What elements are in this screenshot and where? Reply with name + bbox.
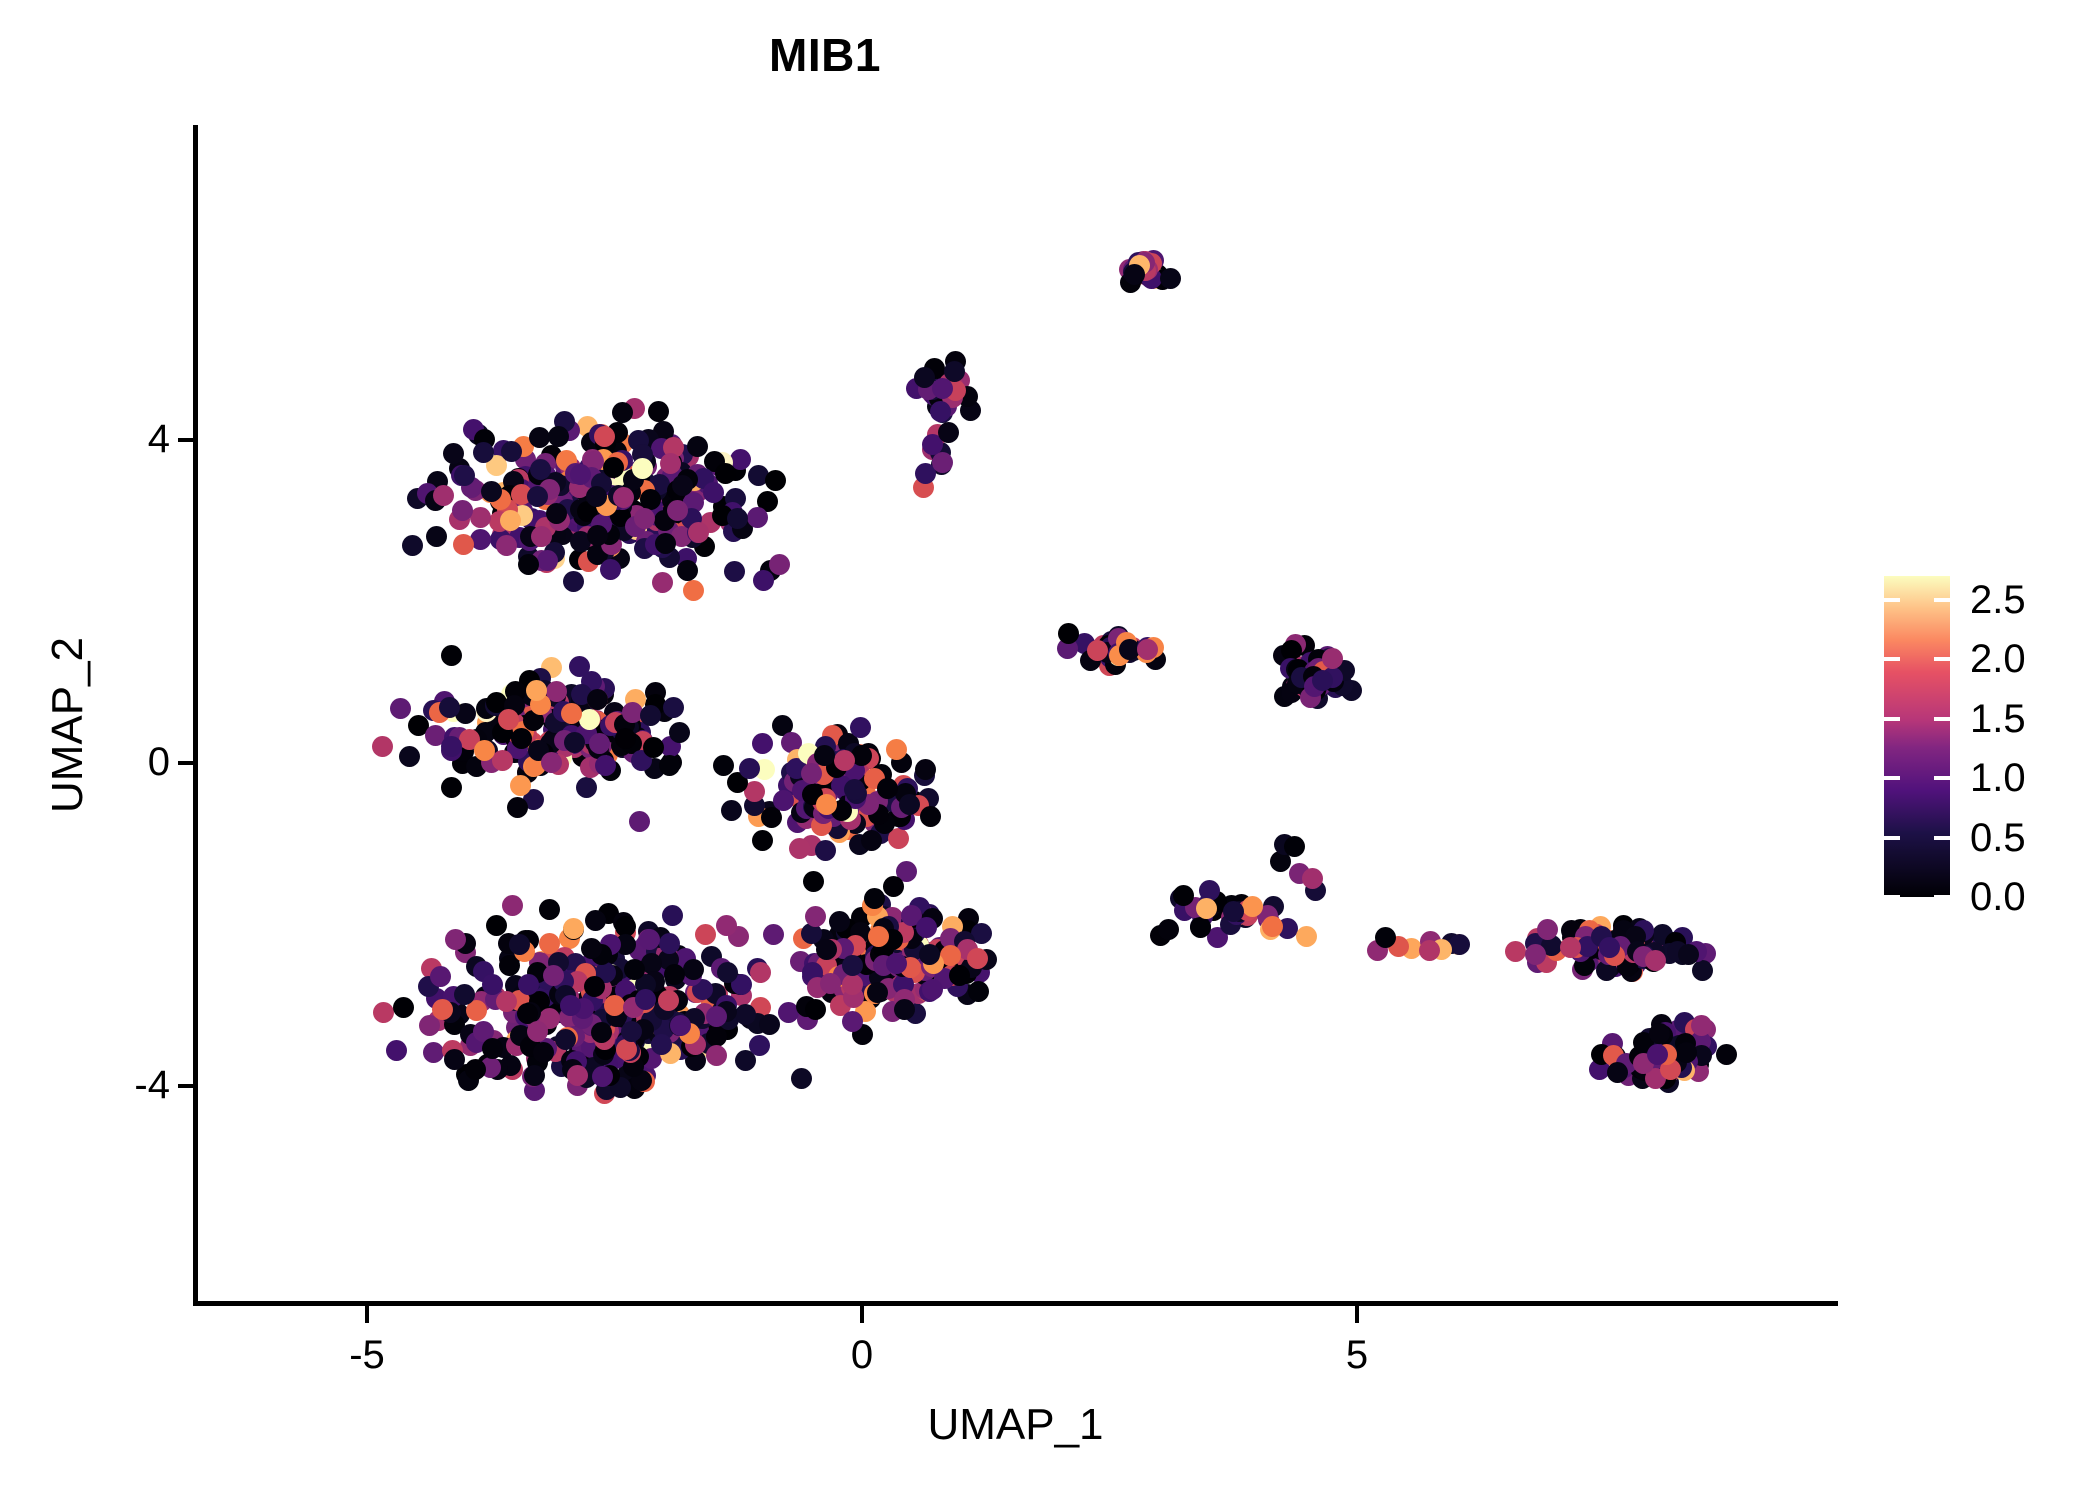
scatter-point: [524, 1065, 545, 1086]
scatter-point: [706, 1045, 727, 1066]
colorbar-tick-mark: [1884, 598, 1900, 602]
scatter-point: [683, 959, 704, 980]
scatter-point: [537, 550, 558, 571]
scatter-point: [670, 1015, 691, 1036]
scatter-point: [922, 979, 943, 1000]
colorbar-tick-label: 2.5: [1970, 578, 2026, 623]
scatter-point: [486, 915, 507, 936]
scatter-point: [585, 910, 606, 931]
scatter-point: [518, 554, 539, 575]
scatter-point: [635, 989, 656, 1010]
scatter-point: [584, 976, 605, 997]
scatter-point: [920, 806, 941, 827]
scatter-point: [677, 560, 698, 581]
scatter-point: [883, 876, 904, 897]
scatter-point: [612, 402, 633, 423]
scatter-point: [511, 728, 532, 749]
scatter-point: [688, 522, 709, 543]
scatter-point: [531, 526, 552, 547]
scatter-point: [393, 997, 414, 1018]
scatter-point: [576, 777, 597, 798]
x-axis-title: UMAP_1: [193, 1400, 1838, 1450]
scatter-point: [829, 911, 850, 932]
colorbar-tick-mark: [1884, 717, 1900, 721]
scatter-point: [864, 888, 885, 909]
scatter-point: [659, 933, 680, 954]
colorbar-tick-mark: [1934, 657, 1950, 661]
scatter-point: [1312, 670, 1333, 691]
scatter-point: [932, 378, 953, 399]
scatter-point: [563, 918, 584, 939]
scatter-point: [546, 503, 567, 524]
scatter-point: [498, 709, 519, 730]
scatter-point: [1678, 944, 1699, 965]
scatter-point: [850, 717, 871, 738]
scatter-point: [509, 934, 530, 955]
scatter-point: [672, 475, 693, 496]
scatter-point: [886, 953, 907, 974]
scatter-point: [390, 698, 411, 719]
scatter-point: [1647, 1044, 1668, 1065]
scatter-point: [567, 1065, 588, 1086]
scatter-point: [967, 948, 988, 969]
scatter-point: [496, 535, 517, 556]
scatter-point: [453, 534, 474, 555]
scatter-point: [639, 929, 660, 950]
colorbar-tick-mark: [1884, 657, 1900, 661]
scatter-point: [938, 422, 959, 443]
scatter-point: [844, 779, 865, 800]
scatter-point: [663, 697, 684, 718]
scatter-point: [640, 705, 661, 726]
chart-canvas: MIB1 40-4 -505 UMAP_1 UMAP_2 2.52.01.51.…: [0, 0, 2100, 1500]
scatter-point: [539, 933, 560, 954]
colorbar-tick-mark: [1934, 776, 1950, 780]
scatter-point: [629, 811, 650, 832]
scatter-point: [595, 755, 616, 776]
scatter-point: [715, 463, 736, 484]
scatter-point: [1199, 880, 1220, 901]
scatter-point: [894, 999, 915, 1020]
scatter-point: [886, 739, 907, 760]
scatter-point: [445, 929, 466, 950]
scatter-point: [752, 733, 773, 754]
scatter-point: [695, 924, 716, 945]
scatter-point: [444, 1049, 465, 1070]
scatter-point: [632, 458, 653, 479]
scatter-point: [473, 442, 494, 463]
scatter-point: [968, 981, 989, 1002]
scatter-point: [454, 465, 475, 486]
scatter-point: [791, 1068, 812, 1089]
scatter-point: [949, 965, 970, 986]
scatter-point: [591, 1022, 612, 1043]
scatter-point: [753, 570, 774, 591]
scatter-point: [687, 436, 708, 457]
scatter-point: [765, 470, 786, 491]
scatter-point: [439, 697, 460, 718]
scatter-point: [402, 535, 423, 556]
colorbar-tick-mark: [1934, 895, 1950, 899]
scatter-point: [615, 728, 636, 749]
scatter-point: [721, 800, 742, 821]
scatter-point: [470, 507, 491, 528]
scatter-point: [433, 485, 454, 506]
scatter-point: [589, 733, 610, 754]
scatter-point: [750, 962, 771, 983]
scatter-point: [861, 830, 882, 851]
scatter-point: [915, 759, 936, 780]
colorbar-tick-label: 0.0: [1970, 875, 2026, 920]
scatter-point: [621, 1021, 642, 1042]
scatter-point: [1676, 1042, 1697, 1063]
scatter-point: [616, 1039, 637, 1060]
scatter-point: [662, 905, 683, 926]
scatter-point: [507, 797, 528, 818]
scatter-point: [659, 755, 680, 776]
colorbar-tick-mark: [1934, 598, 1950, 602]
scatter-point: [1284, 836, 1305, 857]
colorbar-tick-mark: [1884, 836, 1900, 840]
scatter-points-layer: [0, 0, 2100, 1500]
scatter-point: [604, 995, 625, 1016]
scatter-point: [1124, 264, 1145, 285]
scatter-point: [842, 955, 863, 976]
scatter-point: [816, 939, 837, 960]
scatter-point: [1160, 268, 1181, 289]
scatter-point: [1537, 919, 1558, 940]
scatter-point: [916, 917, 937, 938]
scatter-point: [560, 995, 581, 1016]
scatter-point: [1607, 1062, 1628, 1083]
scatter-point: [441, 777, 462, 798]
colorbar-tick-label: 1.5: [1970, 697, 2026, 742]
scatter-point: [747, 507, 768, 528]
scatter-point: [399, 746, 420, 767]
scatter-point: [769, 554, 790, 575]
scatter-point: [454, 984, 475, 1005]
scatter-point: [564, 732, 585, 753]
scatter-point: [683, 580, 704, 601]
scatter-point: [373, 1002, 394, 1023]
scatter-point: [386, 1040, 407, 1061]
scatter-point: [474, 740, 495, 761]
colorbar-gradient: [1884, 576, 1950, 897]
scatter-point: [919, 944, 940, 965]
scatter-point: [1419, 940, 1440, 961]
colorbar-tick-label: 1.0: [1970, 756, 2026, 801]
scatter-point: [586, 486, 607, 507]
scatter-point: [548, 426, 569, 447]
scatter-point: [815, 840, 836, 861]
scatter-point: [1716, 1044, 1737, 1065]
scatter-point: [643, 737, 664, 758]
scatter-point: [706, 1006, 727, 1027]
scatter-point: [899, 794, 920, 815]
scatter-point: [1505, 941, 1526, 962]
colorbar-tick-mark: [1934, 836, 1950, 840]
scatter-point: [651, 1034, 672, 1055]
scatter-point: [432, 999, 453, 1020]
scatter-point: [801, 763, 822, 784]
scatter-point: [727, 508, 748, 529]
scatter-point: [443, 443, 464, 464]
scatter-point: [492, 750, 513, 771]
scatter-point: [594, 426, 615, 447]
scatter-point: [533, 1042, 554, 1063]
scatter-point: [541, 752, 562, 773]
scatter-point: [587, 689, 608, 710]
scatter-point: [867, 982, 888, 1003]
scatter-point: [465, 1059, 486, 1080]
scatter-point: [648, 401, 669, 422]
scatter-point: [805, 906, 826, 927]
scatter-point: [1296, 926, 1317, 947]
scatter-point: [430, 966, 451, 987]
scatter-point: [527, 486, 548, 507]
scatter-point: [752, 830, 773, 851]
scatter-point: [563, 571, 584, 592]
scatter-point: [724, 561, 745, 582]
scatter-point: [761, 807, 782, 828]
scatter-point: [735, 1004, 756, 1025]
y-axis-title: UMAP_2: [43, 425, 93, 1025]
scatter-point: [441, 645, 462, 666]
scatter-point: [877, 778, 898, 799]
scatter-point: [763, 924, 784, 945]
scatter-point: [1302, 868, 1323, 889]
scatter-point: [1190, 917, 1211, 938]
colorbar-tick-label: 2.0: [1970, 637, 2026, 682]
scatter-point: [749, 1035, 770, 1056]
scatter-point: [669, 722, 690, 743]
scatter-point: [372, 736, 393, 757]
scatter-point: [652, 572, 673, 593]
scatter-point: [1158, 919, 1179, 940]
colorbar-tick-label: 0.5: [1970, 816, 2026, 861]
scatter-point: [759, 1014, 780, 1035]
scatter-point: [1242, 896, 1263, 917]
colorbar-tick-mark: [1884, 895, 1900, 899]
scatter-point: [660, 453, 681, 474]
scatter-point: [581, 938, 602, 959]
scatter-point: [789, 838, 810, 859]
scatter-point: [502, 895, 523, 916]
scatter-point: [527, 1021, 548, 1042]
scatter-point: [529, 427, 550, 448]
scatter-point: [814, 745, 835, 766]
colorbar-tick-mark: [1884, 776, 1900, 780]
scatter-point: [805, 999, 826, 1020]
scatter-point: [1137, 639, 1158, 660]
scatter-point: [423, 1042, 444, 1063]
scatter-point: [539, 899, 560, 920]
scatter-point: [482, 974, 503, 995]
scatter-point: [820, 973, 841, 994]
scatter-point: [1645, 950, 1666, 971]
scatter-point: [1599, 937, 1620, 958]
scatter-point: [510, 775, 531, 796]
scatter-point: [803, 871, 824, 892]
scatter-point: [1449, 934, 1470, 955]
colorbar-legend: 2.52.01.51.00.50.0: [1884, 576, 1950, 897]
scatter-point: [426, 526, 447, 547]
colorbar-tick-mark: [1934, 717, 1950, 721]
scatter-point: [1375, 927, 1396, 948]
scatter-point: [664, 964, 685, 985]
scatter-point: [706, 1026, 727, 1047]
scatter-point: [600, 559, 621, 580]
scatter-point: [1692, 960, 1713, 981]
scatter-point: [634, 508, 655, 529]
scatter-point: [624, 959, 645, 980]
scatter-point: [555, 1029, 576, 1050]
